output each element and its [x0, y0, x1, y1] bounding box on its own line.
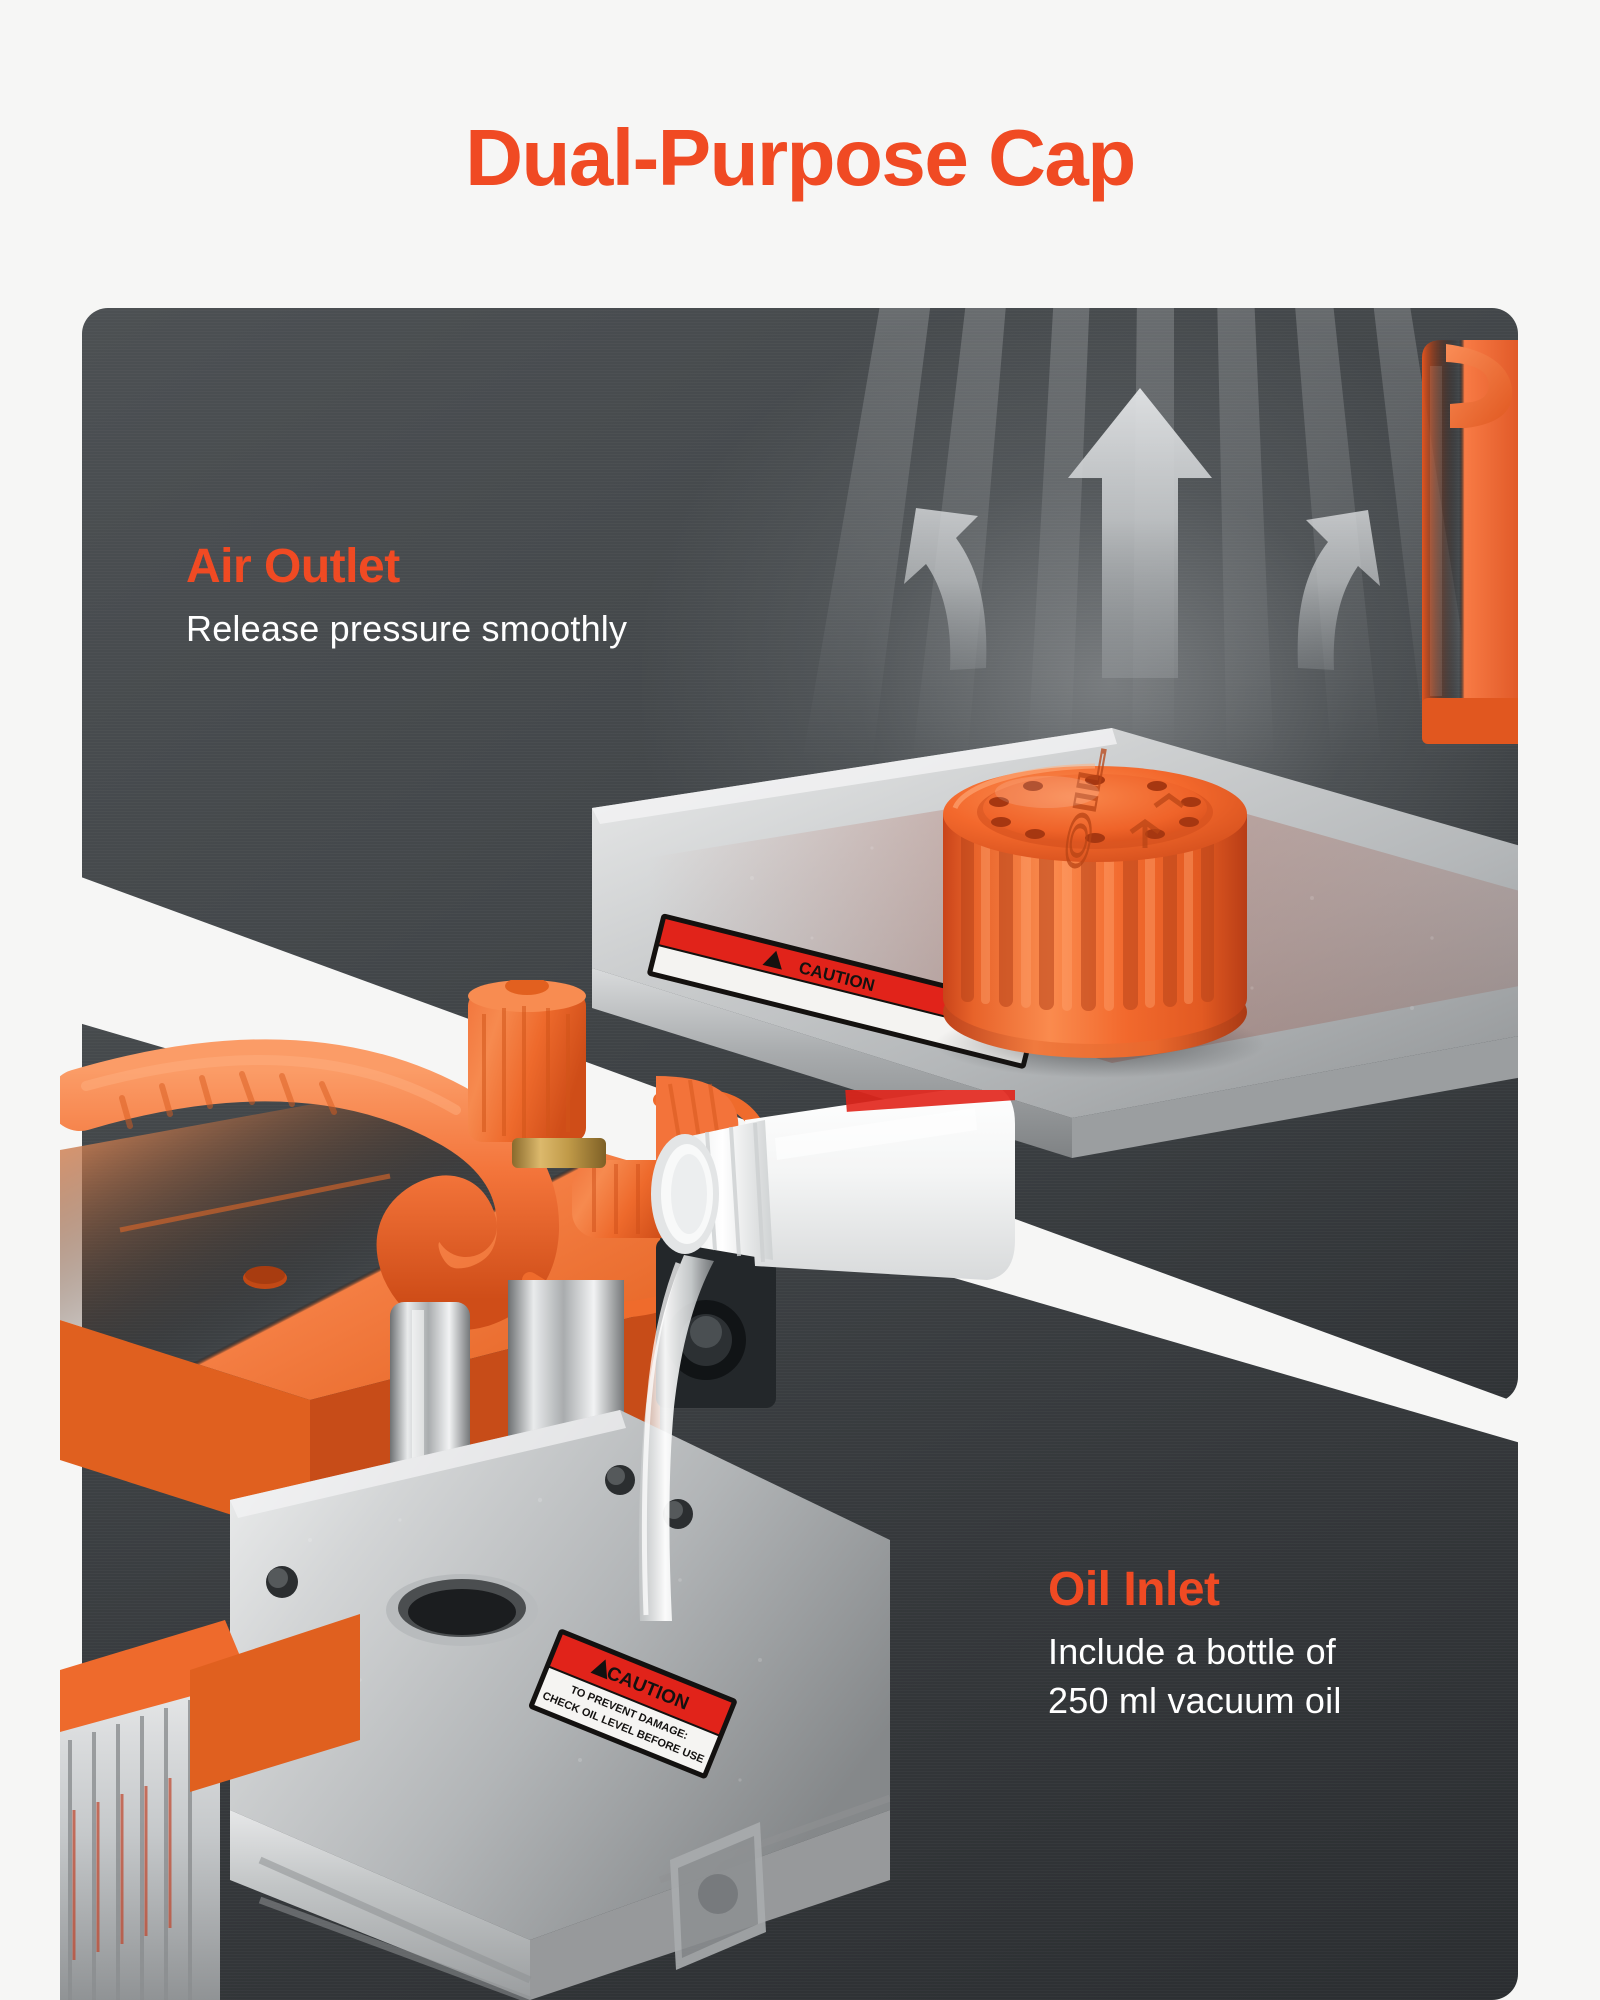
oil-inlet-subtitle-line1: Include a bottle of [1048, 1629, 1568, 1676]
oil-inlet-text-block: Oil Inlet Include a bottle of 250 ml vac… [1048, 1565, 1568, 1725]
air-outlet-heading: Air Outlet [186, 542, 806, 592]
oil-inlet-heading: Oil Inlet [1048, 1565, 1568, 1615]
air-outlet-subtitle: Release pressure smoothly [186, 606, 806, 653]
oil-pour-stream [618, 1255, 758, 1635]
valve-cap-upper [468, 980, 586, 1142]
page-title: Dual-Purpose Cap [0, 118, 1600, 198]
oil-inlet-subtitle-line2: 250 ml vacuum oil [1048, 1678, 1568, 1725]
airflow-arrows [882, 378, 1402, 678]
airflow-arrow-center [1068, 388, 1212, 678]
pump-orange-upright [1400, 318, 1518, 758]
airflow-arrow-left [904, 508, 986, 670]
promo-image-root: Dual-Purpose Cap [0, 0, 1600, 2000]
air-outlet-text-block: Air Outlet Release pressure smoothly [186, 542, 806, 653]
dual-purpose-oil-cap: OIL [895, 672, 1295, 1092]
airflow-arrow-right [1298, 510, 1380, 670]
